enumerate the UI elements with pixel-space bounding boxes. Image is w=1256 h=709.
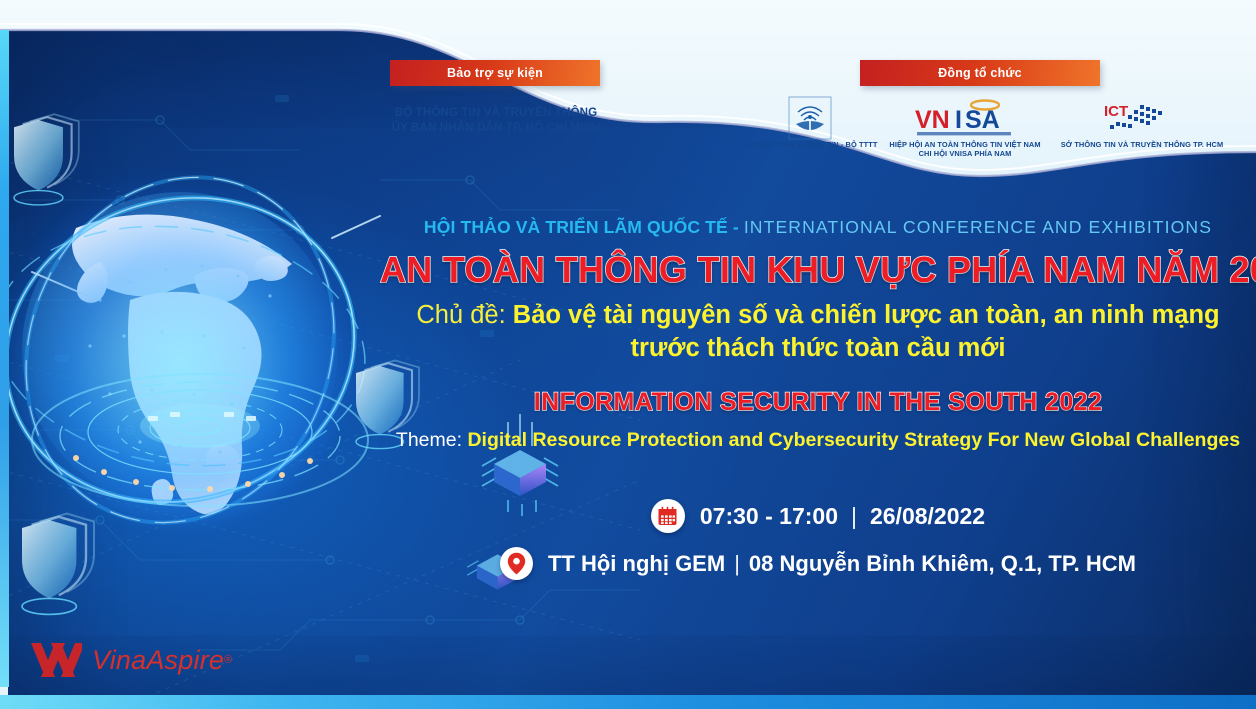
svg-text:I: I <box>955 106 962 134</box>
ict-hcm-logo: ICT <box>1058 95 1226 140</box>
vnisa-logo: VN I SA <box>880 95 1050 140</box>
org-ais: CỤC AN TOÀN THÔNG TIN - BỘ TTTT <box>722 95 898 149</box>
ict-caption-1: SỞ THÔNG TIN VÀ TRUYỀN THÔNG TP. HCM <box>1058 140 1226 149</box>
sponsor-organizations: BỘ THÔNG TIN VÀ TRUYỀN THÔNG ỦY BAN NHÂN… <box>384 105 608 135</box>
time-row: 07:30 - 17:00 | 26/08/2022 <box>380 499 1256 533</box>
title-vietnamese: AN TOÀN THÔNG TIN KHU VỰC PHÍA NAM NĂM 2… <box>380 248 1256 292</box>
title-english: INFORMATION SECURITY IN THE SOUTH 2022 <box>380 386 1256 418</box>
map-pin-icon <box>500 547 533 580</box>
calendar-icon <box>651 499 685 533</box>
org-vnisa: VN I SA HIỆP HỘI AN TOÀN THÔNG TIN VIỆT … <box>880 95 1050 158</box>
vnisa-caption-1: HIỆP HỘI AN TOÀN THÔNG TIN VIỆT NAM <box>880 140 1050 149</box>
brand-logo[interactable]: VinaAspire ® <box>30 639 232 681</box>
time-separator: | <box>838 503 870 530</box>
svg-text:SA: SA <box>965 106 1000 134</box>
sponsor-line-2: ỦY BAN NHÂN DÂN TP. HỒ CHÍ MINH <box>384 120 608 135</box>
coorganizer-badge: Đồng tổ chức <box>860 60 1100 86</box>
subject-line-2: trước thách thức toàn cầu mới <box>380 332 1256 365</box>
venue-separator: | <box>725 551 749 577</box>
bottom-edge-accent <box>0 695 1256 709</box>
subject-label: Chủ đề: <box>416 301 505 329</box>
kicker-line: HỘI THẢO VÀ TRIỂN LÃM QUỐC TẾ - INTERNAT… <box>380 215 1256 239</box>
subject-line-1: Chủ đề: Bảo vệ tài nguyên số và chiến lư… <box>380 299 1256 332</box>
sponsor-badge: Bảo trợ sự kiện <box>390 60 600 86</box>
venue-row: TT Hội nghị GEM | 08 Nguyễn Bỉnh Khiêm, … <box>380 547 1256 580</box>
sponsor-line-1: BỘ THÔNG TIN VÀ TRUYỀN THÔNG <box>384 105 608 120</box>
event-date: 26/08/2022 <box>870 503 985 530</box>
subject-value-1: Bảo vệ tài nguyên số và chiến lược an to… <box>513 301 1220 329</box>
venue-name: TT Hội nghị GEM <box>548 551 725 577</box>
org-ict-hcm: ICT SỞ THÔNG TIN VÀ TRUYỀN THÔNG TP. HCM <box>1058 95 1226 149</box>
svg-text:VN: VN <box>915 106 950 134</box>
theme-label: Theme: <box>396 429 462 451</box>
main-content: HỘI THẢO VÀ TRIỂN LÃM QUỐC TẾ - INTERNAT… <box>380 215 1256 580</box>
header-area: Bảo trợ sự kiện BỘ THÔNG TIN VÀ TRUYỀN T… <box>0 0 1256 175</box>
double-x-mark <box>30 639 82 681</box>
theme-value: Digital Resource Protection and Cybersec… <box>467 429 1240 451</box>
event-banner: Bảo trợ sự kiện BỘ THÔNG TIN VÀ TRUYỀN T… <box>0 0 1256 709</box>
theme-line: Theme: Digital Resource Protection and C… <box>380 427 1256 453</box>
kicker-english: INTERNATIONAL CONFERENCE AND EXHIBITIONS <box>744 217 1212 237</box>
registered-mark: ® <box>224 654 232 666</box>
ais-caption-1: CỤC AN TOÀN THÔNG TIN - BỘ TTTT <box>722 140 898 149</box>
ais-lotus-logo <box>722 95 898 140</box>
svg-text:ICT: ICT <box>1104 103 1128 120</box>
venue-address: 08 Nguyễn Bỉnh Khiêm, Q.1, TP. HCM <box>749 551 1136 577</box>
vnisa-caption-2: CHI HỘI VNISA PHÍA NAM <box>880 149 1050 158</box>
brand-name: VinaAspire <box>92 645 224 676</box>
event-time: 07:30 - 17:00 <box>700 503 838 530</box>
event-info: 07:30 - 17:00 | 26/08/2022 TT Hội nghị G… <box>380 499 1256 580</box>
kicker-vietnamese: HỘI THẢO VÀ TRIỂN LÃM QUỐC TẾ - <box>424 217 739 237</box>
